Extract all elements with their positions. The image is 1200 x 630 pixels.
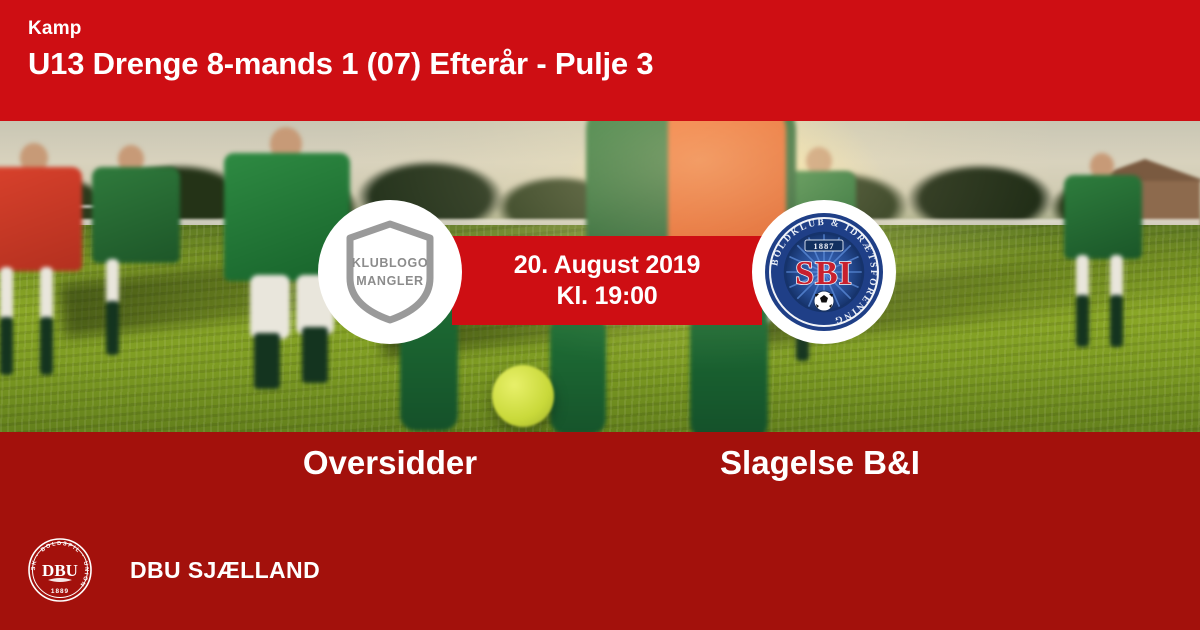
- poster-header: Kamp U13 Drenge 8-mands 1 (07) Efterår -…: [0, 0, 1200, 121]
- away-team-name: Slagelse B&I: [570, 443, 1070, 483]
- home-team-badge: KLUBLOGO MANGLER: [318, 200, 462, 344]
- kamp-label: Kamp: [28, 18, 1200, 40]
- svg-text:DBU: DBU: [42, 561, 78, 580]
- match-date: 20. August 2019: [514, 250, 700, 281]
- shield-placeholder-icon: [318, 200, 462, 344]
- organisation-name: DBU SJÆLLAND: [130, 557, 320, 584]
- home-team-name: Oversidder: [140, 443, 640, 483]
- match-time: Kl. 19:00: [556, 281, 657, 312]
- match-datetime-banner: 20. August 2019 Kl. 19:00: [452, 236, 762, 325]
- svg-text:SBI: SBI: [795, 255, 853, 292]
- poster-footer: DANSK · BOLDSPIL · UNION DBU 1889 DBU SJ…: [28, 538, 320, 602]
- svg-text:1889: 1889: [51, 588, 69, 595]
- svg-text:1887: 1887: [813, 241, 834, 251]
- match-poster: Kamp U13 Drenge 8-mands 1 (07) Efterår -…: [0, 0, 1200, 630]
- sbi-club-crest-icon: SLAGELSE BOLDKLUB & IDRÆTSFORENING 1887 …: [764, 212, 884, 332]
- league-title: U13 Drenge 8-mands 1 (07) Efterår - Pulj…: [28, 44, 1200, 84]
- away-team-badge: SLAGELSE BOLDKLUB & IDRÆTSFORENING 1887 …: [752, 200, 896, 344]
- dbu-logo-icon: DANSK · BOLDSPIL · UNION DBU 1889: [28, 538, 92, 602]
